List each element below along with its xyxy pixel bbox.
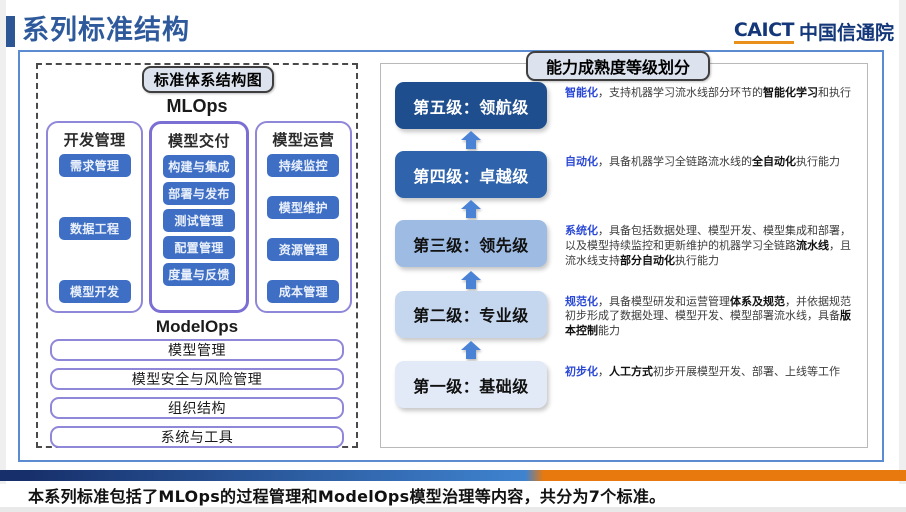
column-title: 模型运营 xyxy=(272,129,334,150)
mlops-item[interactable]: 资源管理 xyxy=(267,238,339,261)
level-desc-post2: 执行能力 xyxy=(675,254,719,267)
level-desc-post: 执行能力 xyxy=(796,155,840,168)
logo-text-en: CAICT xyxy=(734,20,794,44)
level-keyword: 初步化 xyxy=(565,365,598,378)
caict-logo: CAICT 中国信通院 xyxy=(734,20,894,44)
modelops-label: ModelOps xyxy=(38,317,356,337)
mlops-item[interactable]: 配置管理 xyxy=(163,236,235,259)
modelops-item[interactable]: 组织结构 xyxy=(50,397,344,419)
level-desc-bold: 体系及规范 xyxy=(730,295,785,308)
level-box-3[interactable]: 第三级：领先级 xyxy=(395,220,547,267)
level-desc-bold: 全自动化 xyxy=(752,155,796,168)
mlops-column-dev: 开发管理 需求管理 数据工程 模型开发 xyxy=(46,121,143,313)
level-description-2: 规范化，具备模型研发和运营管理体系及规范，并依据规范初步形成了数据处理、模型开发… xyxy=(547,291,855,340)
level-description-5: 智能化，支持机器学习流水线部分环节的智能化学习和执行 xyxy=(547,82,855,101)
level-box-4[interactable]: 第四级：卓越级 xyxy=(395,151,547,198)
column-title: 模型交付 xyxy=(168,130,230,151)
slide-header: 系列标准结构 CAICT 中国信通院 xyxy=(0,14,906,50)
level-box-2[interactable]: 第二级：专业级 xyxy=(395,291,547,338)
mlops-item[interactable]: 模型维护 xyxy=(267,196,339,219)
mlops-item[interactable]: 构建与集成 xyxy=(163,155,235,178)
level-desc-post2: 能力 xyxy=(598,324,620,337)
arrow-row xyxy=(395,129,855,151)
level-desc-pre: ，具备模型研发和运营管理 xyxy=(598,295,730,308)
arrow-row xyxy=(395,198,855,220)
title-accent-bar xyxy=(6,16,15,47)
up-arrow-icon xyxy=(395,339,547,361)
up-arrow-icon xyxy=(395,269,547,291)
modelops-item[interactable]: 模型管理 xyxy=(50,339,344,361)
mlops-label: MLOps xyxy=(38,96,356,117)
level-keyword: 智能化 xyxy=(565,86,598,99)
level-desc-post: 初步开展模型开发、部署、上线等工作 xyxy=(653,365,840,378)
logo-text-cn: 中国信通院 xyxy=(799,23,894,44)
level-keyword: 规范化 xyxy=(565,295,598,308)
level-desc-pre: ，支持机器学习流水线部分环节的 xyxy=(598,86,763,99)
mlops-item[interactable]: 成本管理 xyxy=(267,280,339,303)
level-description-4: 自动化，具备机器学习全链路流水线的全自动化执行能力 xyxy=(547,151,855,170)
content-canvas: 标准体系结构图 MLOps 开发管理 需求管理 数据工程 模型开发 模型交付 构… xyxy=(18,50,884,462)
level-desc-bold: 智能化学习 xyxy=(763,86,818,99)
level-box-5[interactable]: 第五级：领航级 xyxy=(395,82,547,129)
mlops-column-ops: 模型运营 持续监控 模型维护 资源管理 成本管理 xyxy=(255,121,352,313)
maturity-level-panel: 能力成熟度等级划分 第五级：领航级 智能化，支持机器学习流水线部分环节的智能化学… xyxy=(380,63,868,448)
up-arrow-icon xyxy=(395,129,547,151)
mlops-item[interactable]: 持续监控 xyxy=(267,154,339,177)
left-panel-tag: 标准体系结构图 xyxy=(142,66,274,93)
mlops-column-delivery: 模型交付 构建与集成 部署与发布 测试管理 配置管理 度量与反馈 xyxy=(149,121,248,313)
maturity-level-row: 第四级：卓越级 自动化，具备机器学习全链路流水线的全自动化执行能力 xyxy=(395,151,855,198)
level-desc-bold2: 部分自动化 xyxy=(620,254,675,267)
maturity-levels-list: 第五级：领航级 智能化，支持机器学习流水线部分环节的智能化学习和执行 第四级：卓… xyxy=(395,82,855,434)
arrow-row xyxy=(395,269,855,291)
bottom-edge-strip xyxy=(0,507,906,512)
left-edge-strip xyxy=(0,0,6,512)
modelops-rows: 模型管理 模型安全与风险管理 组织结构 系统与工具 xyxy=(50,339,344,448)
level-desc-pre: ， xyxy=(598,365,609,378)
level-description-1: 初步化，人工方式初步开展模型开发、部署、上线等工作 xyxy=(547,361,855,380)
mlops-item[interactable]: 需求管理 xyxy=(59,154,131,177)
mlops-columns: 开发管理 需求管理 数据工程 模型开发 模型交付 构建与集成 部署与发布 测试管… xyxy=(46,121,352,313)
mlops-item[interactable]: 测试管理 xyxy=(163,209,235,232)
arrow-row xyxy=(395,339,855,361)
mlops-item[interactable]: 数据工程 xyxy=(59,217,131,240)
mlops-item[interactable]: 模型开发 xyxy=(59,280,131,303)
footer-gradient-bar xyxy=(0,470,906,481)
modelops-item[interactable]: 系统与工具 xyxy=(50,426,344,448)
level-desc-bold: 流水线 xyxy=(796,239,829,252)
maturity-level-row: 第一级：基础级 初步化，人工方式初步开展模型开发、部署、上线等工作 xyxy=(395,361,855,408)
maturity-level-row: 第五级：领航级 智能化，支持机器学习流水线部分环节的智能化学习和执行 xyxy=(395,82,855,129)
up-arrow-icon xyxy=(395,198,547,220)
level-desc-post: 和执行 xyxy=(818,86,851,99)
level-desc-bold: 人工方式 xyxy=(609,365,653,378)
right-edge-strip xyxy=(899,0,906,512)
modelops-item[interactable]: 模型安全与风险管理 xyxy=(50,368,344,390)
slide-root: 系列标准结构 CAICT 中国信通院 标准体系结构图 MLOps 开发管理 需求… xyxy=(0,0,906,512)
level-keyword: 自动化 xyxy=(565,155,598,168)
level-keyword: 系统化 xyxy=(565,224,598,237)
maturity-level-row: 第三级：领先级 系统化，具备包括数据处理、模型开发、模型集成和部署，以及模型持续… xyxy=(395,220,855,269)
mlops-item[interactable]: 部署与发布 xyxy=(163,182,235,205)
level-desc-pre: ，具备机器学习全链路流水线的 xyxy=(598,155,752,168)
column-title: 开发管理 xyxy=(64,129,126,150)
level-description-3: 系统化，具备包括数据处理、模型开发、模型集成和部署，以及模型持续监控和更新维护的… xyxy=(547,220,855,269)
level-box-1[interactable]: 第一级：基础级 xyxy=(395,361,547,408)
maturity-level-row: 第二级：专业级 规范化，具备模型研发和运营管理体系及规范，并依据规范初步形成了数… xyxy=(395,291,855,340)
right-panel-tag: 能力成熟度等级划分 xyxy=(526,51,710,81)
standard-architecture-panel: 标准体系结构图 MLOps 开发管理 需求管理 数据工程 模型开发 模型交付 构… xyxy=(36,63,358,448)
mlops-item[interactable]: 度量与反馈 xyxy=(163,263,235,286)
page-title: 系列标准结构 xyxy=(22,12,190,50)
